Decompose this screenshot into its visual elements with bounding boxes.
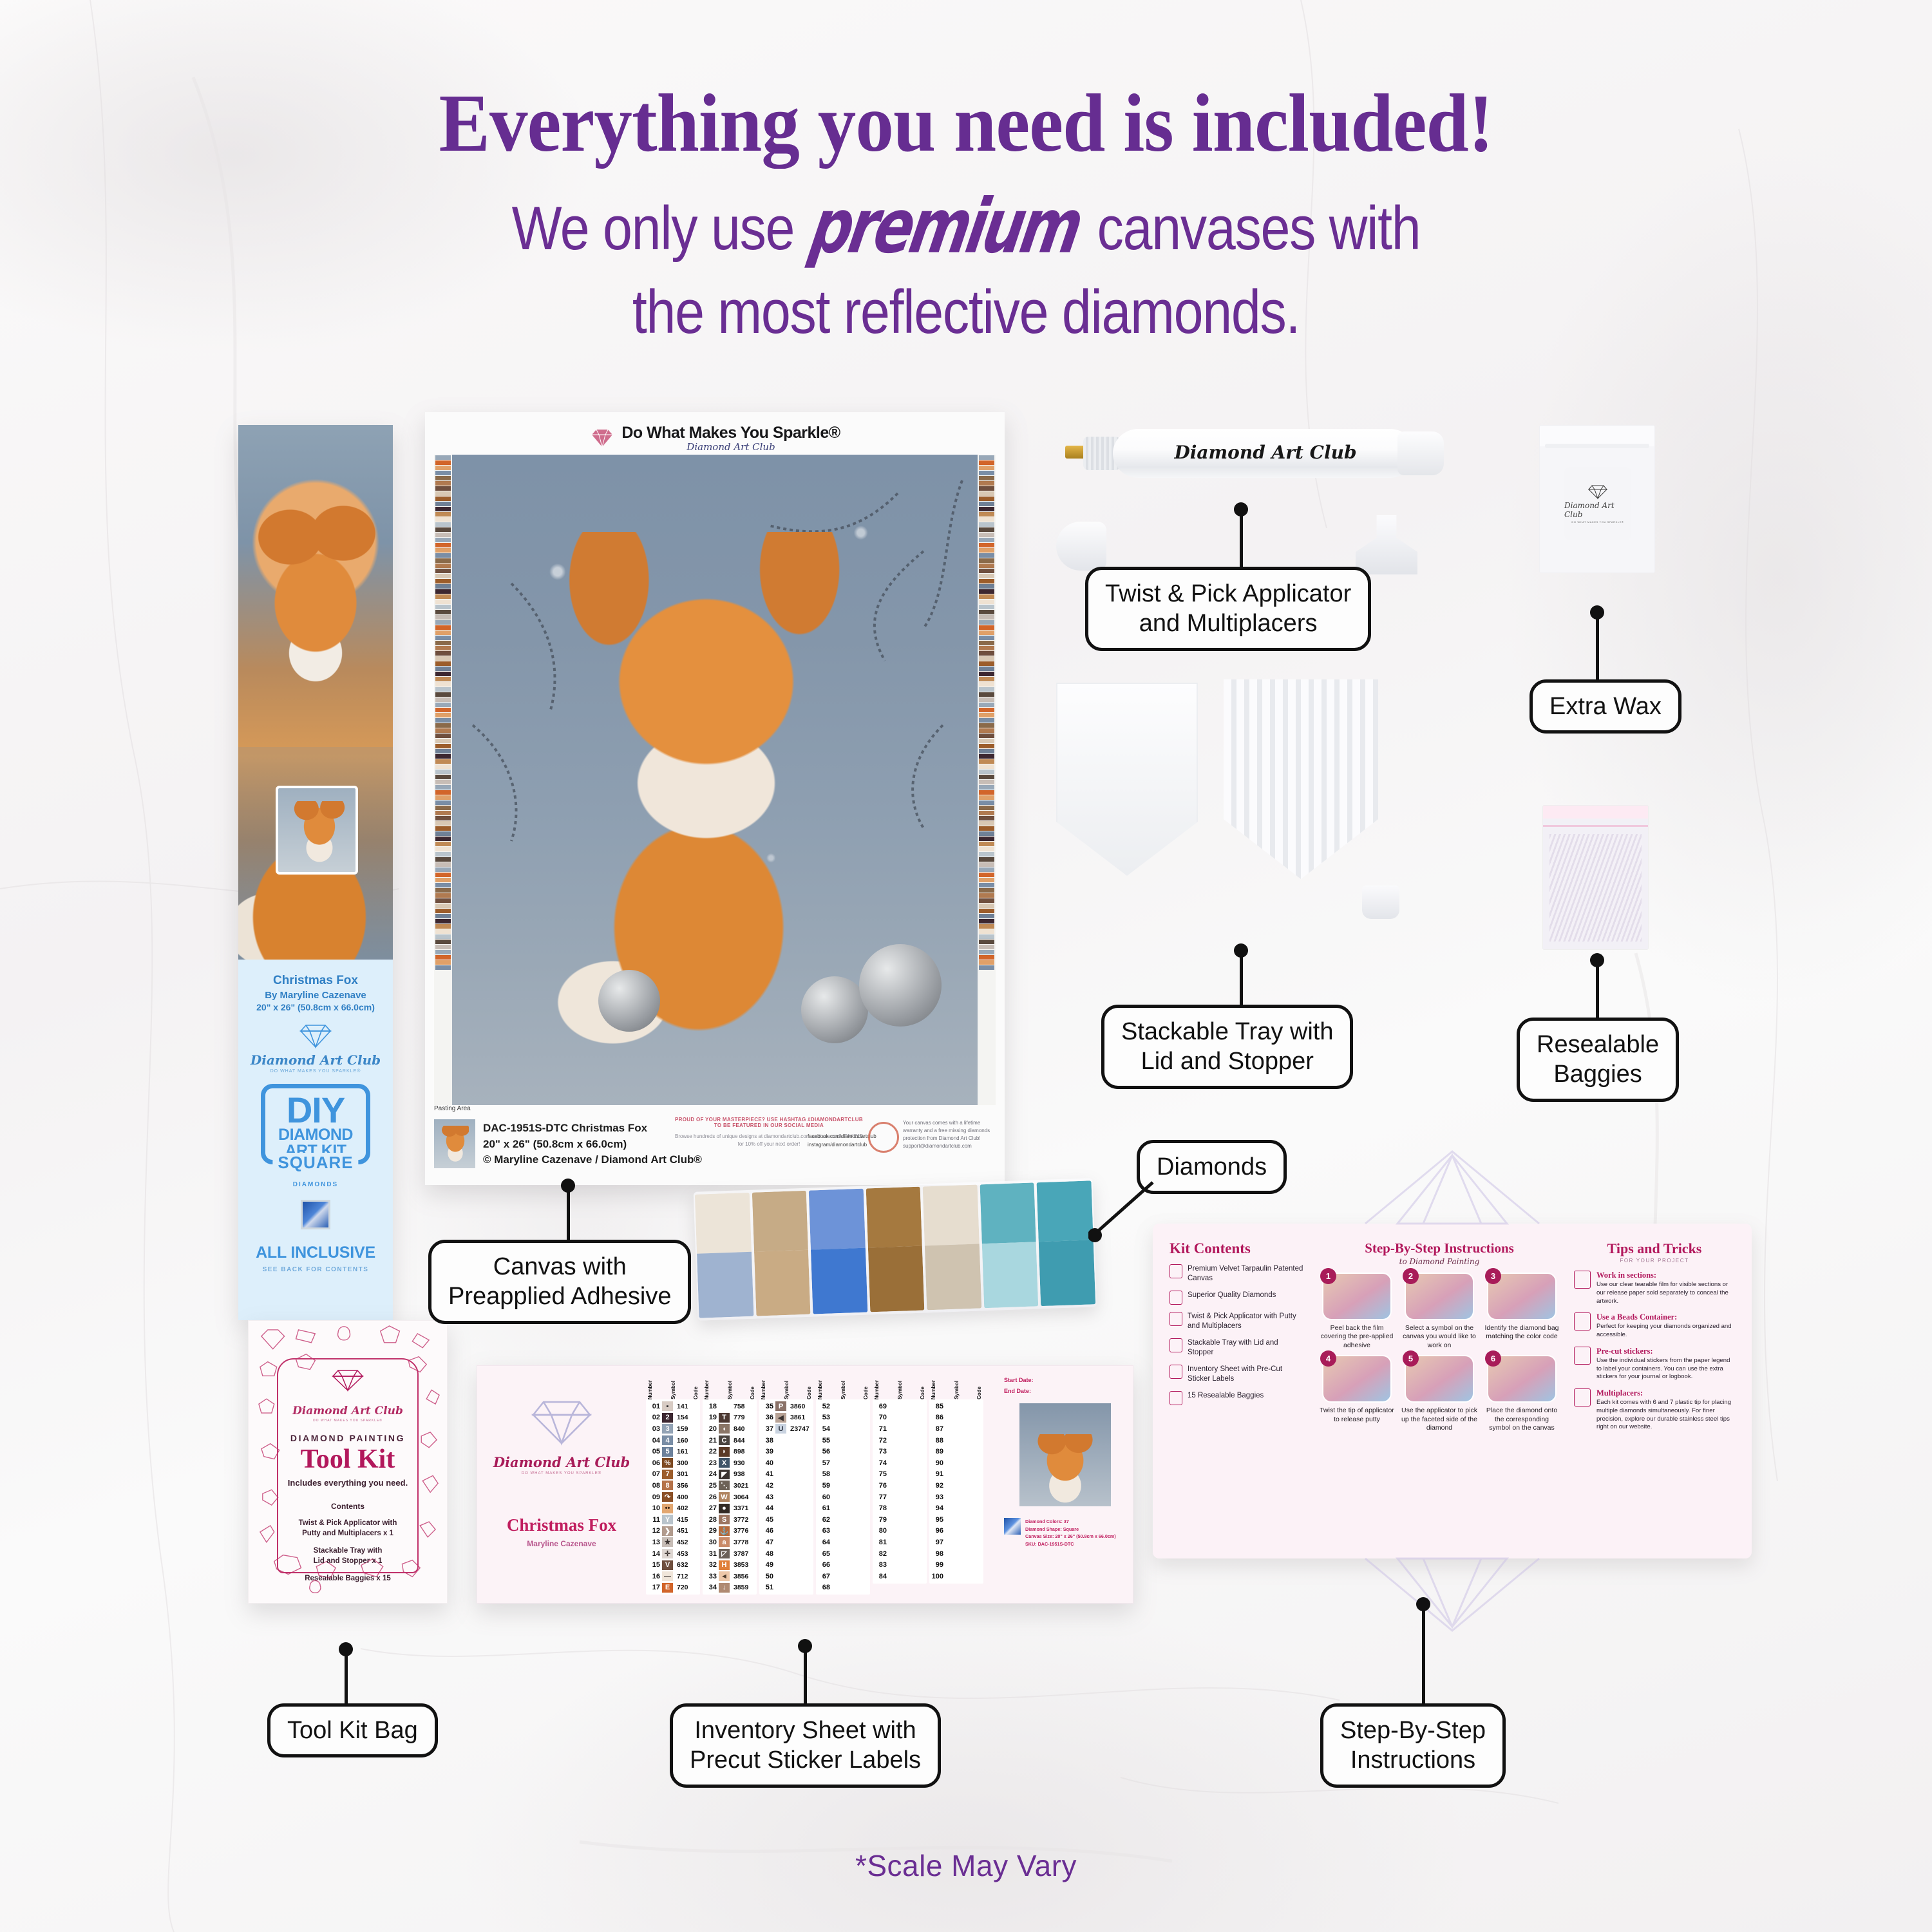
row-symbol: [775, 1435, 786, 1445]
kit-item-label: 15 Resealable Baggies: [1188, 1391, 1264, 1401]
row-symbol: [945, 1424, 956, 1434]
table-row: 18≡758: [703, 1401, 757, 1412]
step-number: 2: [1403, 1268, 1419, 1284]
row-symbol: ◖: [719, 1424, 730, 1434]
resealable-baggie: [1542, 805, 1649, 950]
row-code: 400: [675, 1493, 698, 1501]
column-header: Code: [976, 1387, 982, 1399]
instruction-step: 4Twist the tip of applicator to release …: [1319, 1355, 1395, 1432]
diamond-icon: [1587, 484, 1609, 500]
table-row: 53: [816, 1412, 870, 1424]
table-row: 44: [759, 1502, 813, 1514]
row-symbol: [945, 1435, 956, 1445]
column-header: Symbol: [954, 1381, 960, 1399]
wax-zip: [1545, 444, 1649, 448]
row-symbol: ●: [719, 1504, 730, 1513]
row-number: 11: [648, 1516, 660, 1524]
row-number: 98: [931, 1550, 943, 1558]
wax-window: Diamond Art Club DO WHAT MAKES YOU SPARK…: [1564, 467, 1631, 540]
row-symbol: ★: [662, 1537, 673, 1547]
row-number: 71: [875, 1425, 887, 1433]
step-photo: 4: [1322, 1355, 1392, 1403]
tip-title: Use a Beads Container:: [1596, 1312, 1735, 1322]
column-header: Number: [761, 1380, 766, 1399]
tip-title: Work in sections:: [1596, 1271, 1735, 1280]
row-symbol: [889, 1504, 900, 1513]
stackable-tray: [1224, 679, 1378, 879]
table-row: 40: [759, 1457, 813, 1469]
column-header: Symbol: [670, 1381, 676, 1399]
inventory-dates: Start Date: End Date:: [1004, 1375, 1126, 1397]
kit-contents-row: Inventory Sheet with Pre-Cut Sticker Lab…: [1170, 1365, 1305, 1384]
canvas-header: Do What Makes You Sparkle® Diamond Art C…: [434, 421, 996, 455]
subtitle-part-a: We only use: [512, 194, 795, 263]
canvas-icon: [1170, 1264, 1182, 1278]
row-number: 06: [648, 1459, 660, 1467]
row-symbol: [889, 1537, 900, 1547]
table-row: 96: [929, 1526, 983, 1537]
column-header: Number: [931, 1380, 936, 1399]
baggie-zip: [1543, 825, 1648, 827]
table-row: 34↓3859: [703, 1582, 757, 1594]
tip-title: Pre-cut stickers:: [1596, 1347, 1735, 1356]
table-row: 17E720: [646, 1582, 700, 1594]
row-number: 91: [931, 1470, 943, 1478]
table-row: 01▪141: [646, 1401, 700, 1412]
tool-kit-brand-tagline: DO WHAT MAKES YOU SPARKLE®: [278, 1419, 417, 1423]
row-code: 453: [675, 1550, 698, 1558]
leader-line: [1596, 612, 1599, 683]
sticker-sheet-icon: [1170, 1365, 1182, 1379]
leader-line: [1088, 1179, 1159, 1243]
row-code: 159: [675, 1425, 698, 1433]
row-symbol: H: [719, 1560, 730, 1570]
row-symbol: [889, 1470, 900, 1479]
row-symbol: ◗: [719, 1447, 730, 1457]
shape-label: SQUARE: [272, 1153, 358, 1173]
row-symbol: 3: [662, 1424, 673, 1434]
row-symbol: [945, 1470, 956, 1479]
table-row: 85: [929, 1401, 983, 1412]
row-number: 53: [818, 1414, 830, 1421]
row-code: 720: [675, 1584, 698, 1591]
row-number: 60: [818, 1493, 830, 1501]
leader-dot: [1234, 943, 1248, 958]
table-row: 23X930: [703, 1457, 757, 1469]
tool-kit-brand: Diamond Art Club: [278, 1405, 417, 1417]
row-symbol: [945, 1504, 956, 1513]
callout-label: Extra Wax: [1529, 679, 1681, 734]
column-header: Symbol: [897, 1381, 903, 1399]
row-symbol: ◄: [719, 1571, 730, 1581]
column-header: Code: [750, 1387, 755, 1399]
row-number: 76: [875, 1482, 887, 1490]
row-symbol: ↓: [719, 1583, 730, 1593]
table-row: 24◤938: [703, 1469, 757, 1481]
leader-dot: [1590, 953, 1604, 967]
row-number: 24: [705, 1470, 717, 1478]
callout-label: Canvas with Preapplied Adhesive: [428, 1240, 691, 1324]
canvas-footer-thumbnail: [434, 1119, 475, 1168]
table-row: 64: [816, 1537, 870, 1548]
row-symbol: [775, 1526, 786, 1536]
steps-subheading: to Diamond Painting: [1314, 1257, 1565, 1266]
wax-brand: Diamond Art Club: [1564, 501, 1631, 519]
kit-contents-column: Kit Contents Premium Velvet Tarpaulin Pa…: [1170, 1240, 1305, 1547]
column-header: Code: [863, 1387, 869, 1399]
kit-line-1: DIAMOND: [268, 1127, 363, 1144]
table-row: 19T779: [703, 1412, 757, 1424]
leader-line: [1240, 509, 1243, 567]
callout-resealable-baggies: Resealable Baggies: [1517, 1018, 1679, 1102]
callout-extra-wax: Extra Wax: [1529, 679, 1681, 734]
row-symbol: ◤: [719, 1470, 730, 1479]
row-number: 88: [931, 1437, 943, 1444]
row-symbol: 8: [662, 1481, 673, 1490]
row-symbol: [945, 1571, 956, 1581]
table-row: 74: [873, 1457, 927, 1469]
table-row: 82: [873, 1548, 927, 1560]
inventory-brand-tagline: DO WHAT MAKES YOU SPARKLE®: [477, 1472, 646, 1475]
row-symbol: ✛: [662, 1549, 673, 1558]
row-symbol: [889, 1458, 900, 1468]
square-diamond-swatch: [301, 1200, 330, 1229]
row-number: 38: [761, 1437, 773, 1444]
table-row: 76: [873, 1480, 927, 1492]
row-symbol: [945, 1458, 956, 1468]
table-row: 37UZ3747: [759, 1423, 813, 1435]
step-photo: 2: [1405, 1273, 1474, 1320]
table-row: 43: [759, 1492, 813, 1503]
row-number: 73: [875, 1448, 887, 1455]
table-row: 21C844: [703, 1435, 757, 1446]
callout-applicator: Twist & Pick Applicator and Multiplacers: [1085, 567, 1371, 651]
row-number: 75: [875, 1470, 887, 1478]
table-row: 77: [873, 1492, 927, 1503]
row-code: 632: [675, 1561, 698, 1569]
tip-body: Each kit comes with 6 and 7 plastic tip …: [1596, 1399, 1735, 1432]
table-row: 68: [816, 1582, 870, 1594]
table-row: 29⚓3776: [703, 1526, 757, 1537]
table-row: 73: [873, 1446, 927, 1457]
row-code: 844: [732, 1437, 755, 1444]
row-code: 758: [732, 1403, 755, 1410]
multiplacer-icon: [1574, 1388, 1591, 1406]
row-code: 3853: [732, 1561, 755, 1569]
table-row: 94: [929, 1502, 983, 1514]
row-number: 46: [761, 1527, 773, 1535]
tray-stopper: [1362, 885, 1399, 919]
row-code: 301: [675, 1470, 698, 1478]
tip-title: Multiplacers:: [1596, 1388, 1735, 1398]
row-symbol: [775, 1537, 786, 1547]
row-symbol: [832, 1526, 843, 1536]
inventory-brand: Diamond Art Club: [477, 1454, 646, 1470]
table-row: 55: [816, 1435, 870, 1446]
row-symbol: [832, 1481, 843, 1490]
row-number: 12: [648, 1527, 660, 1535]
row-symbol: [945, 1492, 956, 1502]
row-number: 72: [875, 1437, 887, 1444]
table-row: 39: [759, 1446, 813, 1457]
canvas-size-info: Canvas Size: 20" x 26" (50.8cm x 66.0cm): [1025, 1533, 1116, 1540]
row-code: 779: [732, 1414, 755, 1421]
row-code: 3778: [732, 1539, 755, 1546]
shape-sublabel: DIAMONDS: [245, 1181, 386, 1188]
row-number: 49: [761, 1561, 773, 1569]
table-row: 46: [759, 1526, 813, 1537]
row-number: 56: [818, 1448, 830, 1455]
social-heading: PROUD OF YOUR MASTERPIECE? USE HASHTAG #…: [672, 1117, 866, 1128]
row-number: 92: [931, 1482, 943, 1490]
leader-line: [804, 1645, 807, 1707]
row-code: 3861: [788, 1414, 811, 1421]
row-symbol: [889, 1424, 900, 1434]
row-symbol: V: [662, 1560, 673, 1570]
row-symbol: [832, 1549, 843, 1558]
table-row: 022154: [646, 1412, 700, 1424]
row-symbol: [832, 1470, 843, 1479]
row-symbol: [832, 1571, 843, 1581]
row-symbol: [889, 1526, 900, 1536]
row-number: 63: [818, 1527, 830, 1535]
row-number: 89: [931, 1448, 943, 1455]
tool-kit-content-item: Stackable Tray with Lid and Stopper x 1: [278, 1546, 417, 1566]
multiplacer-tip: [1356, 515, 1417, 574]
table-row: 66: [816, 1559, 870, 1571]
row-symbol: C: [719, 1435, 730, 1445]
table-row: 35P3860: [759, 1401, 813, 1412]
subtitle-part-b: canvases with: [1097, 194, 1421, 263]
row-number: 10: [648, 1504, 660, 1512]
row-number: 81: [875, 1539, 887, 1546]
row-number: 61: [818, 1504, 830, 1512]
tips-subheading: FOR YOUR PROJECT: [1574, 1258, 1735, 1264]
tool-kit-title: Tool Kit: [278, 1446, 417, 1473]
kit-item-label: Twist & Pick Applicator with Putty and M…: [1188, 1312, 1305, 1331]
row-symbol: S: [719, 1515, 730, 1524]
row-number: 57: [818, 1459, 830, 1467]
instagram-link[interactable]: instagram/diamondartclub: [808, 1142, 876, 1148]
row-number: 84: [875, 1573, 887, 1580]
row-code: 161: [675, 1448, 698, 1455]
column-header: Code: [806, 1387, 812, 1399]
row-number: 18: [705, 1403, 717, 1410]
ornament-1: [598, 970, 660, 1032]
row-symbol: [889, 1413, 900, 1423]
row-symbol: [945, 1401, 956, 1411]
sections-icon: [1574, 1271, 1591, 1289]
row-symbol: P: [775, 1401, 786, 1411]
table-row: 32H3853: [703, 1559, 757, 1571]
row-code: 141: [675, 1403, 698, 1410]
row-code: 160: [675, 1437, 698, 1444]
tool-kit-contents-heading: Contents: [278, 1502, 417, 1511]
table-row: 30a3778: [703, 1537, 757, 1548]
subtitle-premium-word: premium: [800, 182, 1091, 270]
table-row: 38: [759, 1435, 813, 1446]
inventory-column: NumberSymbolCode697071727374757677787980…: [873, 1374, 927, 1595]
row-symbol: [775, 1560, 786, 1570]
table-row: 93: [929, 1492, 983, 1503]
kit-contents-row: Twist & Pick Applicator with Putty and M…: [1170, 1312, 1305, 1331]
row-symbol: [832, 1435, 843, 1445]
row-number: 79: [875, 1516, 887, 1524]
table-row: 86: [929, 1412, 983, 1424]
facebook-link[interactable]: facebook.com/diamondartclub: [808, 1133, 876, 1139]
row-number: 74: [875, 1459, 887, 1467]
table-row: 72: [873, 1435, 927, 1446]
row-symbol: [889, 1515, 900, 1524]
row-number: 37: [761, 1425, 773, 1433]
table-row: 78: [873, 1502, 927, 1514]
step-number: 5: [1403, 1350, 1419, 1367]
row-symbol: ▪: [662, 1401, 673, 1411]
inventory-sheet: Diamond Art Club DO WHAT MAKES YOU SPARK…: [477, 1365, 1133, 1604]
tool-kit-content-item: Resealable Baggies x 15: [278, 1574, 417, 1584]
row-symbol: a: [719, 1537, 730, 1547]
row-number: 34: [705, 1584, 717, 1591]
row-number: 70: [875, 1414, 887, 1421]
step-photo: 5: [1405, 1355, 1474, 1403]
step-caption: Use the applicator to pick up the facete…: [1401, 1406, 1477, 1432]
row-code: 451: [675, 1527, 698, 1535]
row-symbol: [945, 1515, 956, 1524]
table-row: 20◖840: [703, 1423, 757, 1435]
twist-pick-applicator: Diamond Art Club: [1037, 425, 1475, 483]
row-code: 3776: [732, 1527, 755, 1535]
callout-stackable-tray: Stackable Tray with Lid and Stopper: [1101, 1005, 1353, 1089]
row-symbol: [775, 1481, 786, 1490]
row-number: 85: [931, 1403, 943, 1410]
applicator-icon: [1170, 1312, 1182, 1326]
leader-line: [1422, 1604, 1425, 1707]
ornament-3: [859, 944, 942, 1027]
callout-canvas: Canvas with Preapplied Adhesive: [428, 1240, 691, 1324]
table-row: 088356: [646, 1480, 700, 1492]
subtitle-line-1: We only use premium canvases with: [135, 187, 1797, 265]
row-symbol: [945, 1413, 956, 1423]
tip-body: Use the individual stickers from the pap…: [1596, 1357, 1735, 1381]
kit-contents-row: 15 Resealable Baggies: [1170, 1391, 1305, 1405]
tip-row: Pre-cut stickers:Use the individual stic…: [1574, 1347, 1735, 1381]
table-row: 100: [929, 1571, 983, 1582]
tip-body: Perfect for keeping your diamonds organi…: [1596, 1323, 1735, 1340]
row-code: 3371: [732, 1504, 755, 1512]
row-code: 3772: [732, 1516, 755, 1524]
row-symbol: [775, 1549, 786, 1558]
row-symbol: [889, 1401, 900, 1411]
row-number: 64: [818, 1539, 830, 1546]
row-number: 45: [761, 1516, 773, 1524]
kit-contents-row: Premium Velvet Tarpaulin Patented Canvas: [1170, 1264, 1305, 1283]
end-date-field[interactable]: End Date:: [1004, 1386, 1126, 1397]
callout-label: Stackable Tray with Lid and Stopper: [1101, 1005, 1353, 1089]
leader-dot: [561, 1179, 575, 1193]
tip-row: Work in sections:Use our clear tearable …: [1574, 1271, 1735, 1305]
table-row: 89: [929, 1446, 983, 1457]
row-number: 52: [818, 1403, 830, 1410]
row-symbol: ⋱: [719, 1481, 730, 1490]
table-row: 13★452: [646, 1537, 700, 1548]
row-symbol: [832, 1515, 843, 1524]
row-number: 82: [875, 1550, 887, 1558]
table-row: 16—712: [646, 1571, 700, 1582]
table-row: 59: [816, 1480, 870, 1492]
subtitle-line-2: the most reflective diamonds.: [135, 277, 1797, 348]
row-number: 94: [931, 1504, 943, 1512]
kit-contents-row: Stackable Tray with Lid and Stopper: [1170, 1338, 1305, 1358]
row-code: Z3747: [788, 1425, 811, 1433]
box-label: Christmas Fox By Maryline Cazenave 20" x…: [238, 960, 393, 1320]
diamond-bag: [809, 1189, 867, 1314]
row-number: 86: [931, 1414, 943, 1421]
inventory-column: NumberSymbolCode858687888990919293949596…: [929, 1374, 983, 1595]
table-row: 97: [929, 1537, 983, 1548]
table-row: 60: [816, 1492, 870, 1503]
row-number: 25: [705, 1482, 717, 1490]
row-symbol: [832, 1537, 843, 1547]
canvas-size: 20" x 26" (50.8cm x 66.0cm): [483, 1137, 702, 1153]
row-number: 33: [705, 1573, 717, 1580]
row-number: 31: [705, 1550, 717, 1558]
baggie-icon: [1170, 1391, 1182, 1405]
row-symbol: [832, 1458, 843, 1468]
page-title: Everything you need is included!: [68, 76, 1864, 171]
row-number: 47: [761, 1539, 773, 1546]
table-row: 79: [873, 1514, 927, 1526]
inventory-column: NumberSymbolCode35P386036◀386137UZ374738…: [759, 1374, 813, 1595]
diamond-bag: [980, 1182, 1038, 1308]
step-photo: 3: [1487, 1273, 1557, 1320]
row-symbol: ↷: [662, 1492, 673, 1502]
row-number: 69: [875, 1403, 887, 1410]
row-symbol: ⚓: [719, 1526, 730, 1536]
card-bottom-diamond-band: [1153, 1557, 1752, 1634]
row-number: 87: [931, 1425, 943, 1433]
row-number: 23: [705, 1459, 717, 1467]
row-number: 35: [761, 1403, 773, 1410]
diamond-colors: Diamond Colors: 37: [1025, 1518, 1116, 1526]
start-date-field[interactable]: Start Date:: [1004, 1375, 1126, 1386]
table-row: 61: [816, 1502, 870, 1514]
callout-label: Resealable Baggies: [1517, 1018, 1679, 1102]
ornament-2: [801, 976, 868, 1043]
row-symbol: [945, 1526, 956, 1536]
row-code: 938: [732, 1470, 755, 1478]
step-caption: Twist the tip of applicator to release p…: [1319, 1406, 1395, 1424]
row-symbol: [775, 1571, 786, 1581]
see-back-label: SEE BACK FOR CONTENTS: [245, 1266, 386, 1273]
tool-kit-subtitle: Includes everything you need.: [278, 1478, 417, 1488]
row-symbol: 2: [662, 1413, 673, 1423]
callout-label: Tool Kit Bag: [267, 1703, 438, 1757]
row-number: 51: [761, 1584, 773, 1591]
row-code: 930: [732, 1459, 755, 1467]
leader-line: [345, 1649, 348, 1707]
diamond-bag: [695, 1193, 753, 1318]
row-symbol: [945, 1560, 956, 1570]
table-row: 45: [759, 1514, 813, 1526]
tool-kit-panel: Diamond Art Club DO WHAT MAKES YOU SPARK…: [277, 1358, 419, 1573]
large-diamond-icon: [528, 1398, 595, 1446]
tool-kit-bag: Diamond Art Club DO WHAT MAKES YOU SPARK…: [248, 1320, 448, 1604]
box-inset-thumbnail: [276, 786, 358, 875]
column-header: Number: [874, 1380, 880, 1399]
inventory-artist: Maryline Cazenave: [477, 1539, 646, 1548]
row-number: 21: [705, 1437, 717, 1444]
diamonds-icon: [1170, 1291, 1182, 1305]
